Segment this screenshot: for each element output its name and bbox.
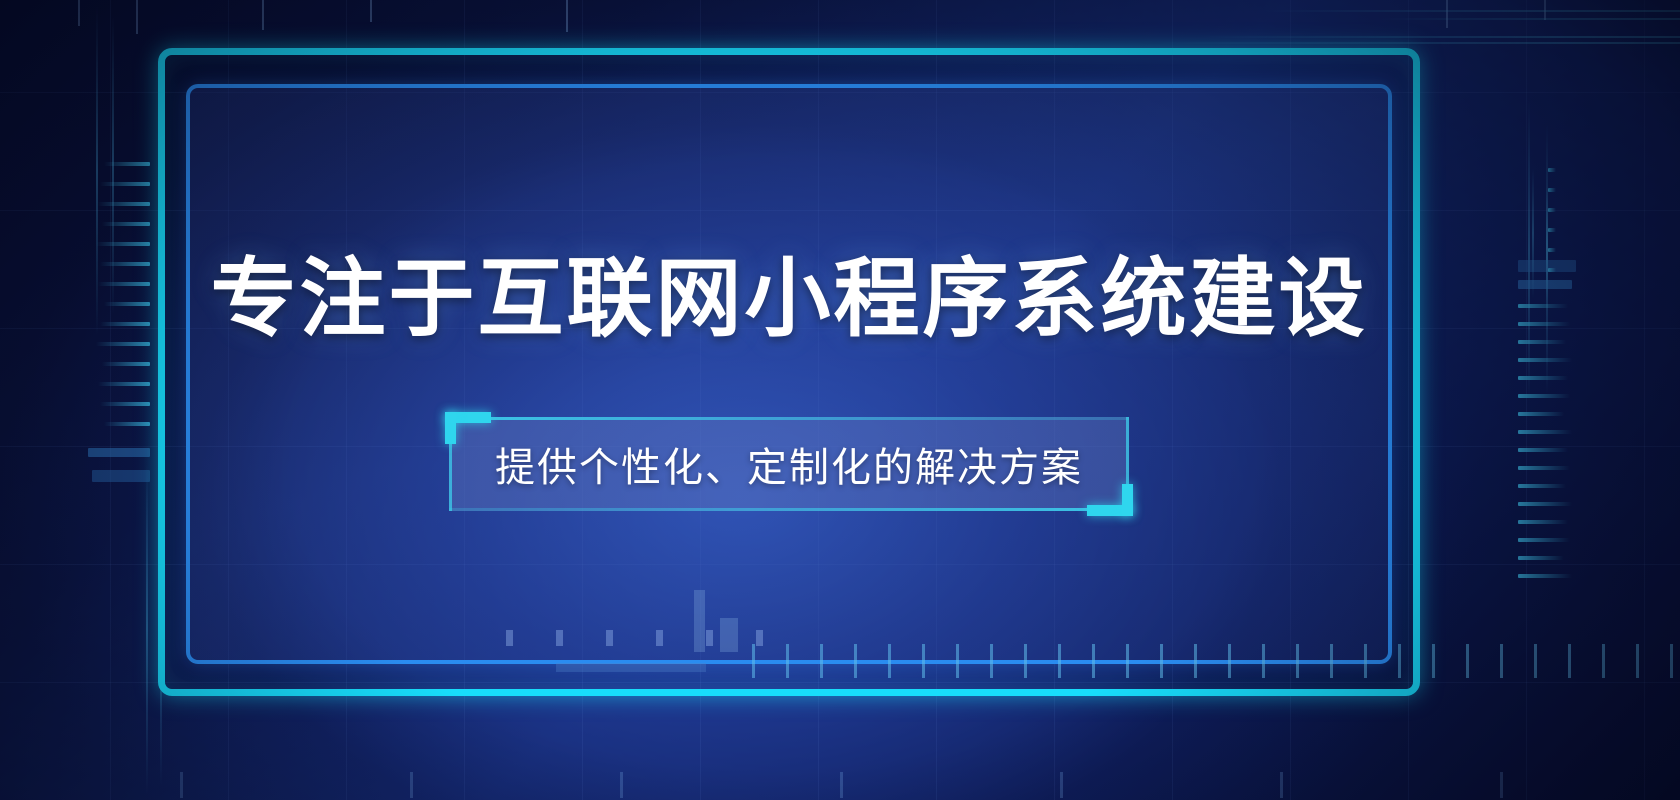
- right-hairline-1: [1528, 100, 1530, 400]
- banner-content: 专注于互联网小程序系统建设 提供个性化、定制化的解决方案: [186, 84, 1392, 664]
- left-hairline-3: [146, 464, 148, 794]
- page-title: 专注于互联网小程序系统建设: [211, 253, 1368, 346]
- right-hairline-3: [1532, 168, 1534, 298]
- left-tick-stack: [0, 150, 150, 610]
- subtitle-box-top-edge: [449, 417, 1129, 420]
- subtitle-text: 提供个性化、定制化的解决方案: [495, 435, 1083, 493]
- right-hairline-2: [1546, 124, 1548, 394]
- top-dash-6: [1446, 0, 1448, 28]
- right-tick-stack: [1518, 260, 1680, 780]
- top-dash-5: [566, 0, 568, 32]
- right-small-ticks: [1518, 168, 1578, 288]
- bottom-minibar-flat: [556, 663, 706, 672]
- left-hairline-1: [96, 6, 98, 336]
- top-dash-4: [370, 0, 372, 22]
- hero-banner: 专注于互联网小程序系统建设 提供个性化、定制化的解决方案: [0, 0, 1680, 800]
- right-hairline-4: [1546, 186, 1548, 302]
- subtitle-box: 提供个性化、定制化的解决方案: [449, 417, 1129, 511]
- top-dash-1: [78, 0, 80, 26]
- top-sweep-4: [1160, 42, 1680, 44]
- left-hairline-2: [112, 14, 114, 314]
- top-dash-2: [136, 0, 138, 34]
- subtitle-box-right-edge: [1126, 417, 1129, 511]
- top-dash-3: [262, 0, 264, 30]
- top-sweep-1: [1260, 10, 1680, 12]
- footer-tick-comb: [180, 772, 1580, 800]
- top-dash-7: [1544, 0, 1546, 20]
- top-sweep-3: [1200, 36, 1680, 38]
- top-sweep-2: [1380, 18, 1680, 20]
- subtitle-box-bottom-edge: [449, 508, 1129, 511]
- left-hairline-4: [160, 486, 162, 786]
- subtitle-box-left-edge: [449, 417, 452, 511]
